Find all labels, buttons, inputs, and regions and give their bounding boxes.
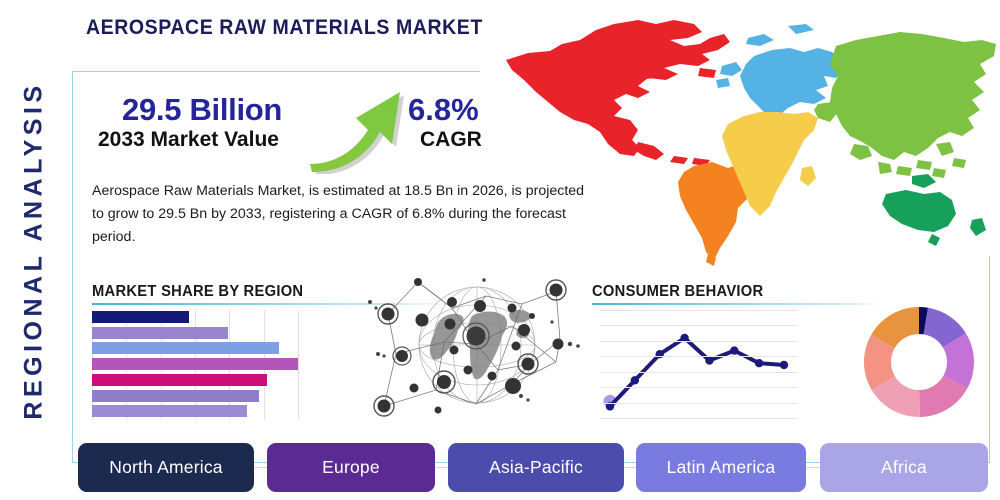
line-chart-point	[755, 359, 763, 367]
page-title: AEROSPACE RAW MATERIALS MARKET	[86, 16, 483, 40]
bar-chart-bar	[92, 311, 189, 323]
region-button-north-america[interactable]: North America	[78, 443, 254, 492]
cagr-figure: 6.8%	[408, 92, 479, 128]
side-label-regional-analysis: REGIONAL ANALYSIS	[6, 0, 62, 500]
line-chart-point	[705, 356, 713, 364]
market-value-label: 2033 Market Value	[98, 128, 279, 152]
line-chart-point	[730, 346, 738, 354]
description-text: Aerospace Raw Materials Market, is estim…	[92, 180, 592, 249]
bar-chart-row	[92, 374, 298, 386]
line-chart-plot	[600, 310, 798, 418]
bar-chart-row	[92, 358, 298, 370]
network-globe-icon	[366, 266, 588, 424]
infographic-root: REGIONAL ANALYSIS AEROSPACE RAW MATERIAL…	[0, 0, 1000, 500]
bar-chart-bar	[92, 358, 298, 370]
bar-chart-row	[92, 405, 298, 417]
bar-chart-bar	[92, 342, 279, 354]
market-value-figure: 29.5 Billion	[122, 92, 282, 128]
bar-chart-bar	[92, 405, 247, 417]
region-button-asia-pacific[interactable]: Asia-Pacific	[448, 443, 624, 492]
region-connector-line	[624, 467, 636, 468]
line-chart-gridline	[600, 310, 798, 311]
stats-row: 29.5 Billion 2033 Market Value 6.8% CAGR	[90, 92, 510, 170]
line-chart-gridline	[600, 418, 798, 419]
section-heading-consumer-behavior: CONSUMER BEHAVIOR	[592, 283, 763, 301]
bar-chart-gridline	[298, 310, 299, 420]
region-connector-line	[806, 467, 820, 468]
regional-donut-chart	[862, 305, 976, 419]
region-connector-line	[435, 467, 448, 468]
region-button-europe[interactable]: Europe	[267, 443, 435, 492]
region-button-bar: North AmericaEuropeAsia-PacificLatin Ame…	[78, 443, 988, 492]
cagr-label: CAGR	[420, 128, 482, 152]
bar-chart-row	[92, 327, 298, 339]
consumer-behavior-line-chart	[600, 310, 798, 418]
bar-chart-row	[92, 311, 298, 323]
line-chart-gridline	[600, 356, 798, 357]
line-chart-gridline	[600, 403, 798, 404]
line-chart-gridline	[600, 325, 798, 326]
bar-chart-bar	[92, 390, 259, 402]
line-chart-point	[656, 350, 664, 358]
region-connector-line	[254, 467, 267, 468]
line-chart-gridline	[600, 387, 798, 388]
line-chart-point	[780, 361, 788, 369]
line-chart-gridline	[600, 341, 798, 342]
growth-arrow-icon	[304, 84, 416, 174]
market-share-bar-chart	[92, 310, 298, 420]
region-button-africa[interactable]: Africa	[820, 443, 988, 492]
section-rule-consumer-behavior	[592, 303, 882, 305]
bar-chart-bar	[92, 374, 267, 386]
section-heading-market-share: MARKET SHARE BY REGION	[92, 283, 303, 301]
region-button-latin-america[interactable]: Latin America	[636, 443, 806, 492]
line-chart-point	[631, 376, 639, 384]
bar-chart-row	[92, 390, 298, 402]
side-label-text: REGIONAL ANALYSIS	[20, 81, 49, 419]
bar-chart-bar	[92, 327, 228, 339]
line-chart-gridline	[600, 372, 798, 373]
bar-chart-row	[92, 342, 298, 354]
